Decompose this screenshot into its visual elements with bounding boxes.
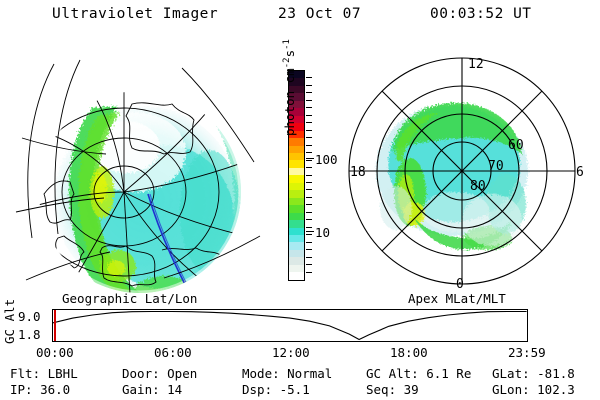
colorbar-band-22 (289, 235, 304, 242)
magnetic-image-panel[interactable]: 12 18 6 0 60 70 80 (336, 42, 588, 294)
gc-altitude-axis-title: GC Alt (2, 299, 17, 344)
mlat-label-80: 80 (470, 179, 486, 194)
mlt-label-0: 0 (456, 277, 464, 292)
colorbar-minor-tick (306, 175, 312, 176)
colorbar-minor-tick (306, 182, 312, 183)
status-seq: Seq: 39 (366, 382, 419, 397)
colorbar-axis-title-sup1: -2 (282, 57, 292, 68)
status-glat: GLat: -81.8 (492, 366, 575, 381)
colorbar-minor-tick (306, 234, 312, 235)
colorbar-minor-tick (306, 130, 312, 131)
gc-altitude-curve-svg (53, 310, 527, 341)
colorbar-minor-tick (306, 152, 312, 153)
colorbar-band-15 (289, 183, 304, 190)
colorbar-band-21 (289, 228, 304, 235)
colorbar-band-17 (289, 198, 304, 205)
alt-tick-low: 1.8 (18, 327, 41, 342)
colorbar-minor-tick (306, 167, 312, 168)
time-tick-4: 23:59 (508, 345, 546, 360)
instrument-title: Ultraviolet Imager (52, 6, 218, 22)
colorbar-label-10: 10 (315, 225, 330, 240)
colorbar-minor-tick (306, 189, 312, 190)
colorbar-band-10 (289, 146, 304, 153)
colorbar-minor-tick (306, 100, 312, 101)
colorbar-band-19 (289, 213, 304, 220)
colorbar-minor-tick (306, 204, 312, 205)
magnetic-plot-svg: 12 18 6 0 60 70 80 (336, 42, 588, 294)
colorbar-band-13 (289, 168, 304, 175)
status-filter: Flt: LBHL (10, 366, 78, 381)
colorbar-minor-tick (306, 122, 312, 123)
colorbar-axis-title: photon cm-2s-1 (282, 39, 297, 136)
status-footer: Flt: LBHL Door: Open Mode: Normal GC Alt… (0, 366, 600, 398)
geographic-panel-caption: Geographic Lat/Lon (62, 291, 197, 306)
colorbar-axis-title-sup2: -1 (282, 39, 292, 50)
mlt-label-12: 12 (468, 57, 484, 72)
colorbar-minor-tick (306, 227, 312, 228)
mlat-label-60: 60 (508, 138, 524, 153)
current-time-marker (54, 310, 56, 341)
colorbar-minor-tick (306, 85, 312, 86)
status-dsp: Dsp: -5.1 (242, 382, 310, 397)
time-tick-3: 18:00 (390, 345, 428, 360)
colorbar-major-tick-10 (306, 231, 314, 232)
geographic-plot-svg (14, 42, 266, 294)
status-mode: Mode: Normal (242, 366, 332, 381)
colorbar-label-100: 100 (315, 152, 338, 167)
colorbar-minor-tick (306, 212, 312, 213)
colorbar: 100 10 photon cm-2s-1 (288, 70, 305, 281)
colorbar-ticks (306, 70, 314, 281)
geographic-image-panel[interactable] (14, 42, 266, 294)
status-ip: IP: 36.0 (10, 382, 70, 397)
header-bar: Ultraviolet Imager 23 Oct 07 00:03:52 UT (0, 6, 600, 28)
colorbar-band-24 (289, 250, 304, 257)
colorbar-band-14 (289, 175, 304, 182)
colorbar-major-tick-100 (306, 158, 314, 159)
status-gain: Gain: 14 (122, 382, 182, 397)
colorbar-band-18 (289, 205, 304, 212)
mlt-label-18: 18 (350, 165, 366, 180)
colorbar-minor-tick (306, 264, 312, 265)
colorbar-band-27 (289, 272, 304, 279)
observation-date: 23 Oct 07 (278, 6, 361, 22)
colorbar-minor-tick (306, 115, 312, 116)
colorbar-band-23 (289, 242, 304, 249)
gc-altitude-strip-plot[interactable] (52, 309, 528, 342)
mlt-spokes (349, 58, 575, 284)
colorbar-minor-tick (306, 257, 312, 258)
colorbar-band-25 (289, 257, 304, 264)
mlat-label-70: 70 (488, 159, 504, 174)
colorbar-minor-tick (306, 219, 312, 220)
observation-time: 00:03:52 UT (430, 6, 532, 22)
colorbar-band-16 (289, 190, 304, 197)
colorbar-minor-tick (306, 145, 312, 146)
colorbar-band-11 (289, 153, 304, 160)
colorbar-minor-tick (306, 197, 312, 198)
time-tick-0: 00:00 (36, 345, 74, 360)
magnetic-panel-caption: Apex MLat/MLT (408, 291, 506, 306)
aurora-emission-map (39, 91, 252, 294)
colorbar-minor-tick (306, 107, 312, 108)
colorbar-band-26 (289, 265, 304, 272)
time-tick-2: 12:00 (272, 345, 310, 360)
colorbar-band-20 (289, 220, 304, 227)
colorbar-band-12 (289, 160, 304, 167)
colorbar-axis-title-main: photon cm (282, 68, 297, 136)
gc-altitude-curve (53, 312, 527, 340)
status-glon: GLon: 102.3 (492, 382, 575, 397)
colorbar-minor-tick (306, 160, 312, 161)
status-door: Door: Open (122, 366, 197, 381)
colorbar-minor-tick (306, 242, 312, 243)
time-tick-1: 06:00 (154, 345, 192, 360)
colorbar-band-9 (289, 138, 304, 145)
colorbar-minor-tick (306, 272, 312, 273)
colorbar-minor-tick (306, 77, 312, 78)
alt-tick-high: 9.0 (18, 309, 41, 324)
colorbar-minor-tick (306, 92, 312, 93)
status-gc-alt: GC Alt: 6.1 Re (366, 366, 471, 381)
colorbar-minor-tick (306, 137, 312, 138)
colorbar-minor-tick (306, 249, 312, 250)
colorbar-axis-title-mid: s (282, 50, 297, 58)
mlt-label-6: 6 (576, 165, 584, 180)
